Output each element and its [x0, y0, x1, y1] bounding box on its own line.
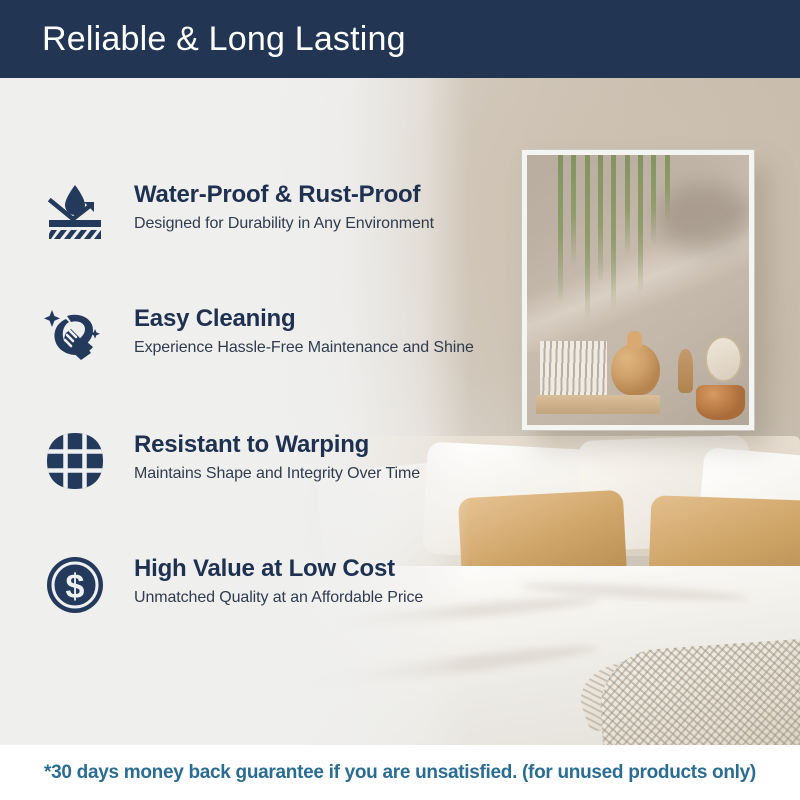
- page-title: Reliable & Long Lasting: [42, 20, 406, 59]
- reflected-vine: [585, 155, 590, 320]
- feature-subtitle: Unmatched Quality at an Affordable Price: [134, 589, 423, 607]
- grid-mesh-icon: [38, 424, 112, 498]
- reflected-vine: [665, 155, 670, 223]
- reflected-vine: [571, 155, 576, 266]
- feature-title: High Value at Low Cost: [134, 556, 423, 582]
- feature-item-warp-resistant: Resistant to Warping Maintains Shape and…: [38, 424, 420, 498]
- hand-wiping-cloth-icon: [38, 298, 112, 372]
- feature-text-block: Easy Cleaning Experience Hassle-Free Mai…: [134, 298, 474, 357]
- feature-title: Water-Proof & Rust-Proof: [134, 182, 434, 208]
- guarantee-footer: *30 days money back guarantee if you are…: [0, 745, 800, 800]
- reflected-vine: [625, 155, 630, 256]
- feature-text-block: High Value at Low Cost Unmatched Quality…: [134, 548, 423, 607]
- reflected-vine: [651, 155, 656, 245]
- feature-list: Water-Proof & Rust-Proof Designed for Du…: [0, 78, 520, 745]
- reflected-bottle: [678, 349, 694, 392]
- reflected-pot-lid: [627, 331, 643, 350]
- product-infographic: Reliable & Long Lasting: [0, 0, 800, 800]
- svg-text:$: $: [66, 568, 85, 606]
- feature-title: Resistant to Warping: [134, 432, 420, 458]
- water-repellent-icon: [38, 174, 112, 248]
- dollar-coin-icon: $: [38, 548, 112, 622]
- reflected-shelf: [536, 395, 660, 414]
- reflected-vanity-mirror: [705, 336, 743, 382]
- framed-wall-mirror: [522, 150, 754, 430]
- feature-text-block: Water-Proof & Rust-Proof Designed for Du…: [134, 174, 434, 233]
- guarantee-text: *30 days money back guarantee if you are…: [44, 762, 756, 784]
- reflected-ceramic-pot: [611, 344, 660, 395]
- feature-subtitle: Experience Hassle-Free Maintenance and S…: [134, 339, 474, 357]
- reflected-bowl: [696, 385, 745, 420]
- feature-item-easy-cleaning: Easy Cleaning Experience Hassle-Free Mai…: [38, 298, 474, 372]
- reflected-vine: [611, 155, 616, 310]
- reflected-vine: [598, 155, 603, 283]
- feature-text-block: Resistant to Warping Maintains Shape and…: [134, 424, 420, 483]
- feature-title: Easy Cleaning: [134, 306, 474, 332]
- feature-subtitle: Maintains Shape and Integrity Over Time: [134, 465, 420, 483]
- mirror-glass-reflection: [527, 155, 749, 425]
- feature-item-waterproof: Water-Proof & Rust-Proof Designed for Du…: [38, 174, 434, 248]
- feature-subtitle: Designed for Durability in Any Environme…: [134, 215, 434, 233]
- reflected-vine: [558, 155, 563, 304]
- reflected-vine: [638, 155, 643, 293]
- header-banner: Reliable & Long Lasting: [0, 0, 800, 78]
- reflected-books: [540, 341, 607, 395]
- reflected-wall-shadow: [656, 182, 749, 252]
- feature-item-high-value: $ High Value at Low Cost Unmatched Quali…: [38, 548, 423, 622]
